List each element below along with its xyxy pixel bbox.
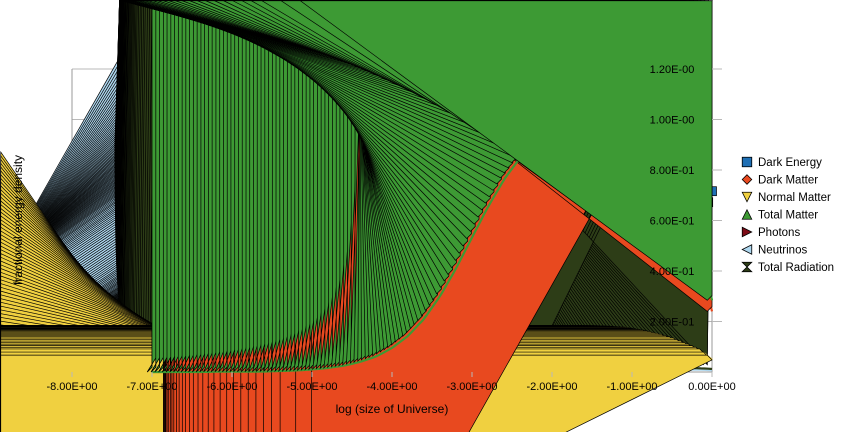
x-tick-label: 0.00E+00 [688, 381, 735, 393]
x-tick-label: -2.00E+00 [526, 381, 577, 393]
x-tick-label: -6.00E+00 [206, 381, 257, 393]
legend-label-dark-matter[interactable]: Dark Matter [758, 175, 818, 187]
legend-label-dark-energy[interactable]: Dark Energy [758, 157, 822, 169]
legend-marker-dark-energy[interactable] [742, 157, 752, 167]
legend-label-neutrinos[interactable]: Neutrinos [758, 245, 807, 257]
y-tick-label: 1.00E-00 [650, 115, 695, 127]
x-tick-label: -4.00E+00 [366, 381, 417, 393]
x-tick-label: -1.00E+00 [606, 381, 657, 393]
legend-label-normal-matter[interactable]: Normal Matter [758, 192, 831, 204]
legend-label-photons[interactable]: Photons [758, 227, 800, 239]
y-tick-label: 4.00E-01 [650, 266, 695, 278]
x-axis-label: log (size of Universe) [336, 402, 449, 416]
x-tick-label: -8.00E+00 [46, 381, 97, 393]
chart-canvas: Fractional Energy Density How much of th… [0, 0, 855, 432]
legend-label-total-radiation[interactable]: Total Radiation [758, 262, 834, 274]
x-tick-label: -5.00E+00 [286, 381, 337, 393]
y-tick-label: 8.00E-01 [650, 165, 695, 177]
x-tick-label: -3.00E+00 [446, 381, 497, 393]
x-tick-label: -7.00E+00 [126, 381, 177, 393]
y-axis-label: fractional energy density [11, 155, 25, 285]
y-tick-label: 1.20E-00 [650, 64, 695, 76]
y-tick-label: 2.00E-01 [650, 317, 695, 329]
y-tick-label: 6.00E-01 [650, 216, 695, 228]
legend-label-total-matter[interactable]: Total Matter [758, 210, 818, 222]
